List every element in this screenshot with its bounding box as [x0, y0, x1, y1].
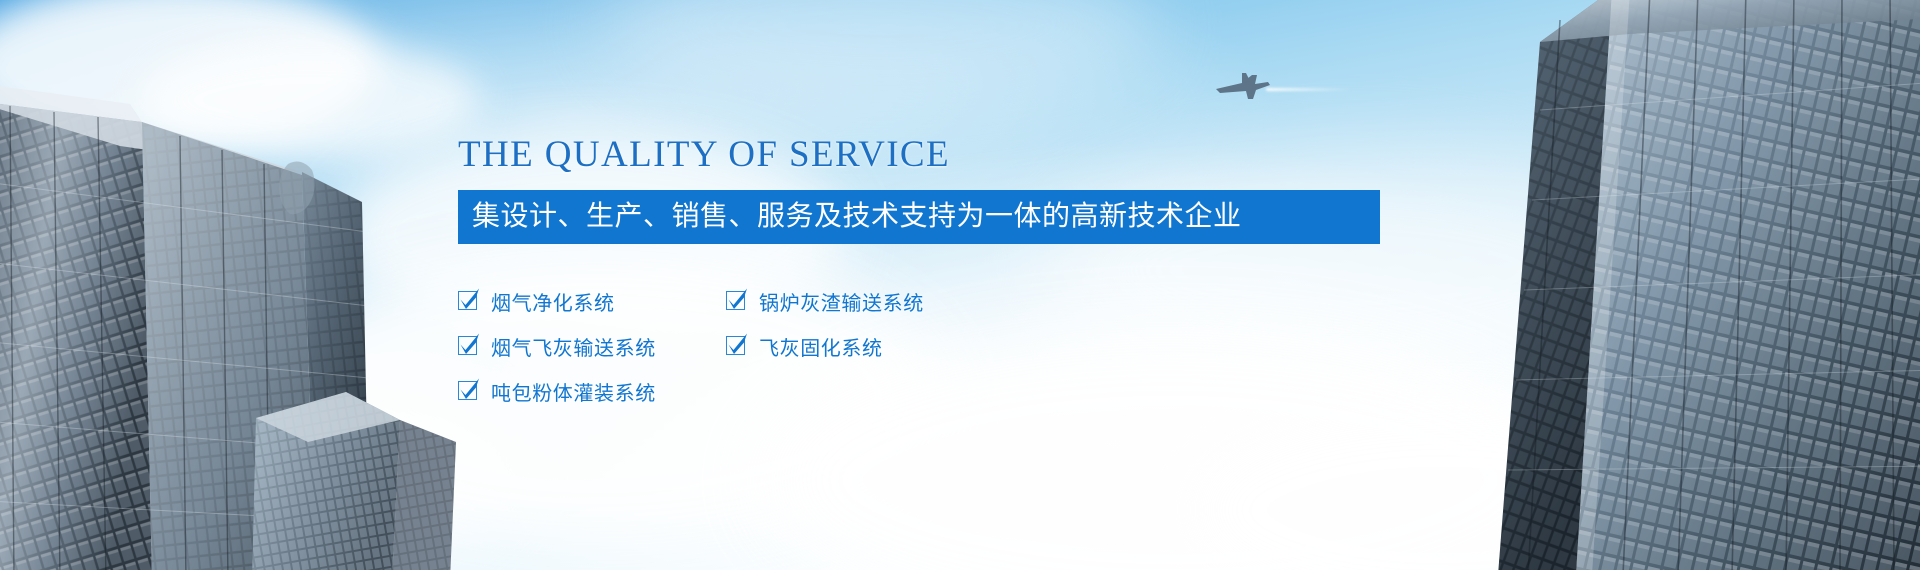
feature-list: 烟气净化系统 锅炉灰渣输送系统 烟气飞灰输送系统: [458, 279, 1418, 414]
feature-label: 锅炉灰渣输送系统: [759, 287, 924, 316]
cloud-decoration: [140, 40, 480, 160]
skyscraper-left-small: [250, 380, 480, 570]
feature-item-fly-ash-conveying[interactable]: 烟气飞灰输送系统: [458, 324, 726, 369]
banner-content: THE QUALITY OF SERVICE 集设计、生产、销售、服务及技术支持…: [458, 136, 1418, 414]
checkbox-checked-icon: [458, 291, 479, 312]
feature-label: 吨包粉体灌装系统: [491, 377, 656, 406]
feature-label: 烟气飞灰输送系统: [491, 332, 656, 361]
checkbox-checked-icon: [726, 291, 747, 312]
feature-item-flue-gas-purification[interactable]: 烟气净化系统: [458, 279, 726, 324]
checkbox-checked-icon: [458, 381, 479, 402]
banner-headline-en: THE QUALITY OF SERVICE: [458, 136, 1418, 173]
checkbox-checked-icon: [726, 336, 747, 357]
skyscraper-left: [0, 60, 440, 570]
banner-tagline-bar: 集设计、生产、销售、服务及技术支持为一体的高新技术企业: [458, 190, 1380, 244]
cloud-decoration: [0, 0, 380, 150]
cloud-decoration: [1180, 400, 1700, 570]
feature-label: 飞灰固化系统: [759, 332, 883, 361]
checkbox-checked-icon: [458, 336, 479, 357]
hero-banner: THE QUALITY OF SERVICE 集设计、生产、销售、服务及技术支持…: [0, 0, 1920, 570]
airplane-icon: [1212, 70, 1272, 104]
feature-item-bulk-bag-powder-filling[interactable]: 吨包粉体灌装系统: [458, 369, 726, 414]
skyscraper-right: [1380, 0, 1920, 570]
feature-item-fly-ash-solidification[interactable]: 飞灰固化系统: [726, 324, 1418, 369]
feature-item-boiler-ash-conveying[interactable]: 锅炉灰渣输送系统: [726, 279, 1418, 324]
contrail-decoration: [1266, 88, 1352, 91]
cloud-decoration: [0, 330, 520, 570]
banner-tagline-cn: 集设计、生产、销售、服务及技术支持为一体的高新技术企业: [472, 198, 1366, 234]
cloud-decoration: [600, 0, 1160, 110]
feature-label: 烟气净化系统: [491, 287, 615, 316]
